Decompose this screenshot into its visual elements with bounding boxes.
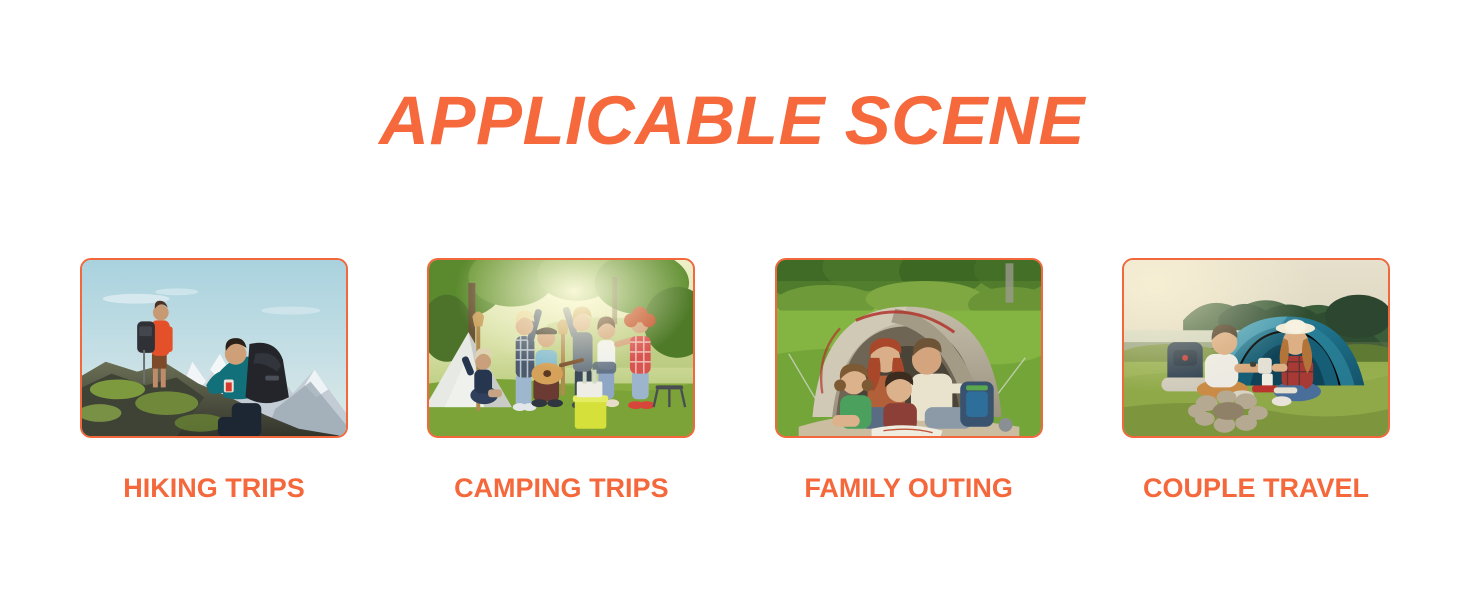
camping-trips-photo (427, 258, 695, 438)
scene-label-camping-trips: CAMPING TRIPS (454, 472, 669, 504)
scene-card-family-outing[interactable]: FAMILY OUTING (775, 258, 1043, 504)
scene-card-row: HIKING TRIPS (80, 258, 1390, 504)
hiking-trips-photo (80, 258, 348, 438)
family-outing-photo (775, 258, 1043, 438)
scene-card-camping-trips[interactable]: CAMPING TRIPS (427, 258, 695, 504)
scene-label-hiking-trips: HIKING TRIPS (123, 472, 305, 504)
scene-label-couple-travel: COUPLE TRAVEL (1143, 472, 1369, 504)
scene-label-family-outing: FAMILY OUTING (804, 472, 1013, 504)
page-title: APPLICABLE SCENE (0, 82, 1464, 160)
scene-card-couple-travel[interactable]: COUPLE TRAVEL (1122, 258, 1390, 504)
applicable-scene-banner: APPLICABLE SCENE (0, 0, 1464, 600)
couple-travel-photo (1122, 258, 1390, 438)
scene-card-hiking-trips[interactable]: HIKING TRIPS (80, 258, 348, 504)
